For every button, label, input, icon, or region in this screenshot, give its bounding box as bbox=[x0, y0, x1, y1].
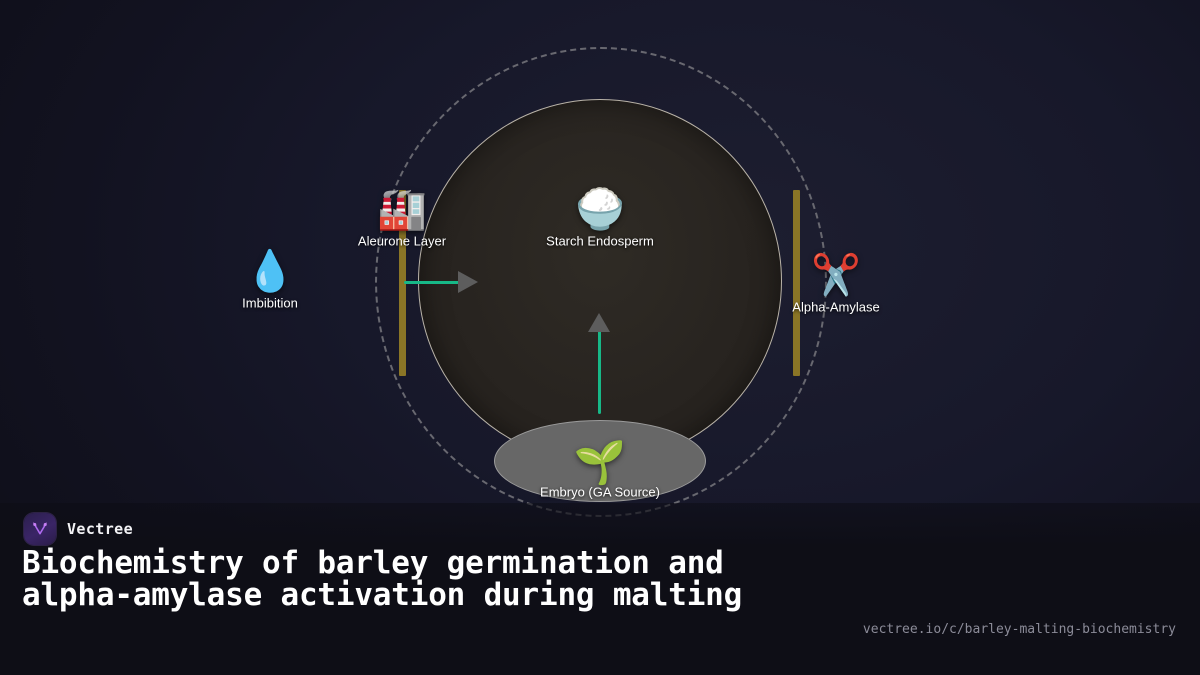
scissors-icon: ✂️ bbox=[811, 254, 861, 298]
brand-name: Vectree bbox=[67, 520, 133, 538]
screenshot-canvas: 💧 Imbibition 🏭 Aleurone Layer 🍚 Starch E… bbox=[0, 0, 1200, 675]
rice-bowl-icon: 🍚 bbox=[575, 188, 625, 232]
brand-row[interactable]: Vectree bbox=[24, 513, 133, 545]
node-aleurone-layer-label: Aleurone Layer bbox=[358, 234, 446, 249]
node-embryo[interactable]: 🌱 Embryo (GA Source) bbox=[540, 441, 660, 500]
node-aleurone-layer[interactable]: 🏭 Aleurone Layer bbox=[358, 188, 446, 249]
node-imbibition[interactable]: 💧 Imbibition bbox=[242, 250, 298, 311]
water-droplet-icon: 💧 bbox=[245, 250, 295, 294]
seedling-icon: 🌱 bbox=[574, 441, 626, 485]
node-alpha-amylase[interactable]: ✂️ Alpha-Amylase bbox=[792, 254, 879, 315]
page-title: Biochemistry of barley germination and a… bbox=[22, 547, 852, 611]
factory-icon: 🏭 bbox=[377, 188, 427, 232]
node-starch-endosperm[interactable]: 🍚 Starch Endosperm bbox=[546, 188, 654, 249]
node-embryo-label: Embryo (GA Source) bbox=[540, 485, 660, 500]
page-url: vectree.io/c/barley-malting-biochemistry bbox=[863, 622, 1176, 637]
node-starch-endosperm-label: Starch Endosperm bbox=[546, 234, 654, 249]
arrow-aleurone-to-endosperm-head bbox=[458, 271, 478, 293]
arrow-embryo-to-endosperm-head bbox=[588, 313, 610, 332]
node-alpha-amylase-label: Alpha-Amylase bbox=[792, 300, 879, 315]
vectree-logo-icon bbox=[24, 513, 56, 545]
arrow-embryo-to-endosperm-line bbox=[598, 330, 601, 414]
arrow-aleurone-to-endosperm-line bbox=[404, 281, 460, 284]
node-imbibition-label: Imbibition bbox=[242, 296, 298, 311]
